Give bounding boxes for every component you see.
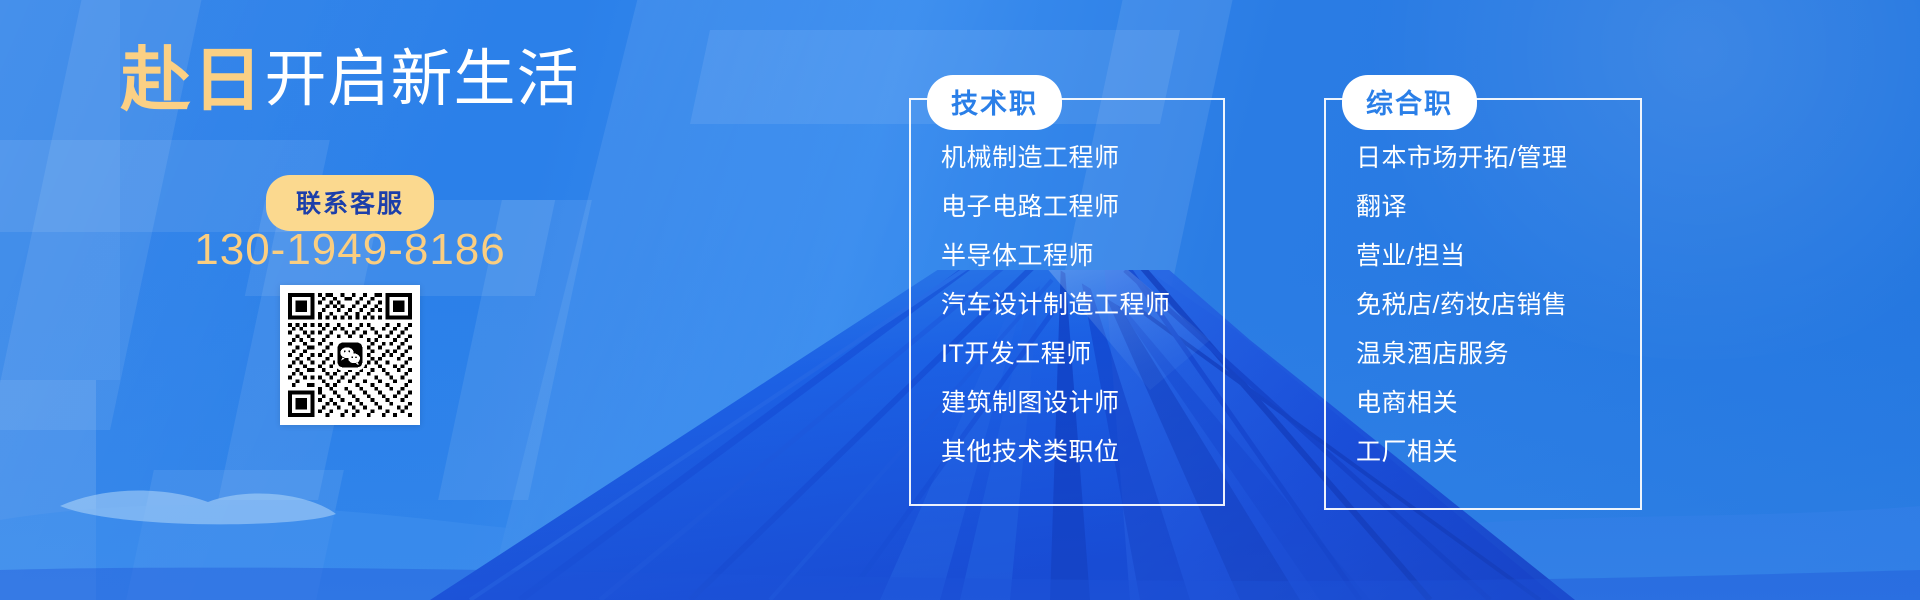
phone-number[interactable]: 130-1949-8186 — [0, 225, 700, 275]
page-title: 赴日开启新生活 — [0, 45, 700, 115]
list-item[interactable]: 营业/担当 — [1356, 232, 1567, 281]
left-content-column: 赴日开启新生活 联系客服 130-1949-8186 — [0, 0, 700, 600]
headline-accent: 赴日 — [120, 41, 264, 119]
list-item[interactable]: 免税店/药妆店销售 — [1356, 281, 1567, 330]
list-item[interactable]: 电子电路工程师 — [941, 183, 1171, 232]
list-item[interactable]: 汽车设计制造工程师 — [941, 281, 1171, 330]
panel-title-general[interactable]: 综合职 — [1342, 75, 1477, 130]
list-item[interactable]: 电商相关 — [1356, 379, 1567, 428]
list-item[interactable]: 温泉酒店服务 — [1356, 330, 1567, 379]
job-list-general: 日本市场开拓/管理 翻译 营业/担当 免税店/药妆店销售 温泉酒店服务 电商相关… — [1356, 134, 1567, 477]
headline-main: 开启新生活 — [264, 45, 579, 114]
qr-code-image — [288, 293, 412, 417]
list-item[interactable]: 建筑制图设计师 — [941, 379, 1171, 428]
list-item[interactable]: IT开发工程师 — [941, 330, 1171, 379]
panel-title-technical[interactable]: 技术职 — [927, 75, 1062, 130]
list-item[interactable]: 日本市场开拓/管理 — [1356, 134, 1567, 183]
wechat-qr-code[interactable] — [280, 285, 420, 425]
list-item[interactable]: 其他技术类职位 — [941, 428, 1171, 477]
promo-banner: 赴日开启新生活 联系客服 130-1949-8186 — [0, 0, 1920, 600]
list-item[interactable]: 半导体工程师 — [941, 232, 1171, 281]
list-item[interactable]: 工厂相关 — [1356, 428, 1567, 477]
job-list-technical: 机械制造工程师 电子电路工程师 半导体工程师 汽车设计制造工程师 IT开发工程师… — [941, 134, 1171, 477]
contact-support-button[interactable]: 联系客服 — [266, 175, 434, 231]
list-item[interactable]: 翻译 — [1356, 183, 1567, 232]
job-panel-general: 综合职 日本市场开拓/管理 翻译 营业/担当 免税店/药妆店销售 温泉酒店服务 … — [1324, 98, 1642, 510]
list-item[interactable]: 机械制造工程师 — [941, 134, 1171, 183]
job-panel-technical: 技术职 机械制造工程师 电子电路工程师 半导体工程师 汽车设计制造工程师 IT开… — [909, 98, 1225, 506]
